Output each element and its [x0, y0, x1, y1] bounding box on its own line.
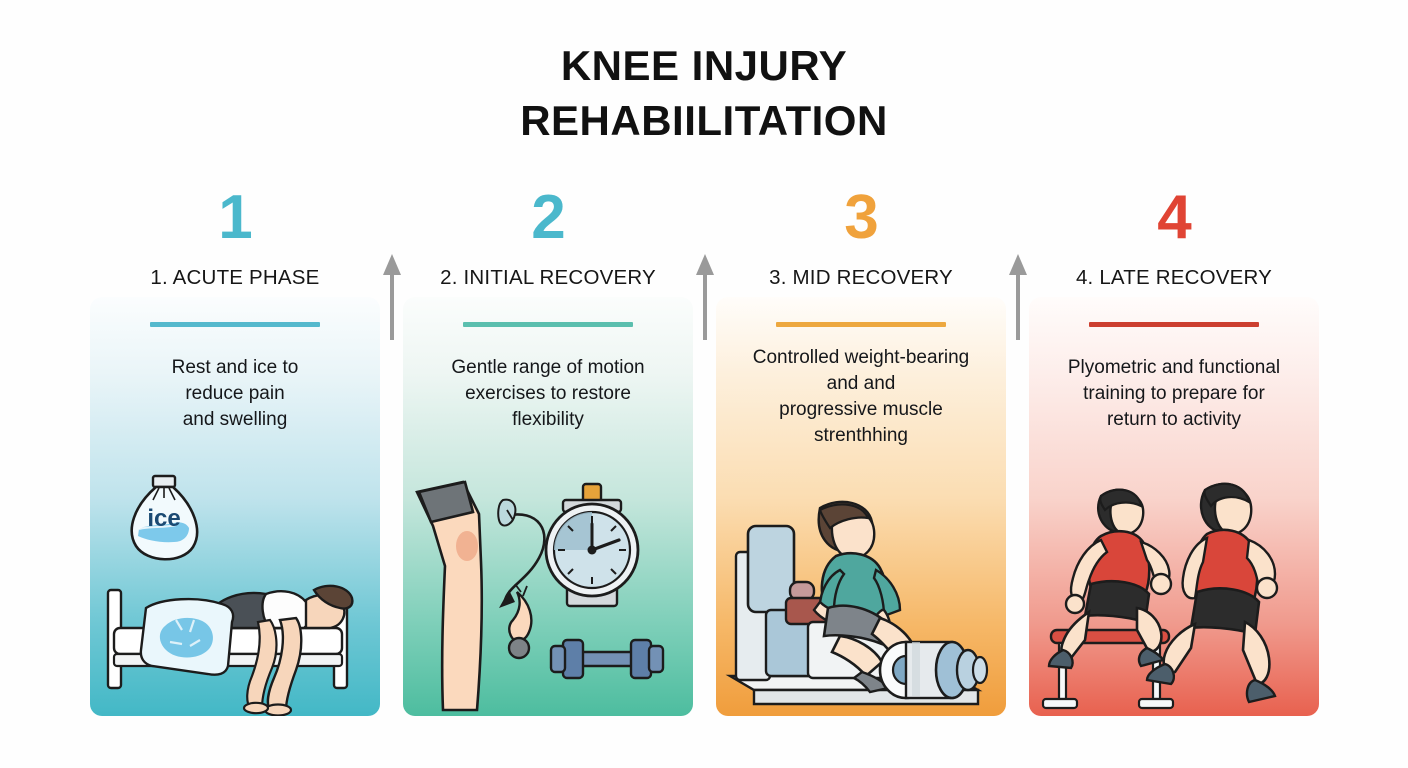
body-line: Rest and ice to	[172, 357, 299, 378]
stopwatch-icon	[546, 484, 638, 606]
step-number-2: 2	[403, 186, 693, 250]
step-number-3: 3	[716, 186, 1006, 250]
arrow-shaft	[703, 274, 707, 340]
step-heading-3: 3. MID RECOVERY	[708, 266, 1014, 290]
page-title-line-1: KNEE INJURY	[0, 38, 1408, 93]
steps-container: 1 1. ACUTE PHASE Rest and ice to reduce …	[90, 186, 1318, 716]
step-card-3[interactable]: Controlled weight-bearing and and progre…	[716, 297, 1006, 716]
step-number-1: 1	[90, 186, 380, 250]
step-number-4: 4	[1029, 186, 1319, 250]
step-body-text-1: Rest and ice to reduce pain and swelling	[96, 355, 374, 433]
step-body-text-2: Gentle range of motion exercises to rest…	[409, 355, 687, 433]
step-accent-bar-4	[1089, 322, 1259, 327]
step-card-4[interactable]: Plyometric and functional training to pr…	[1029, 297, 1319, 716]
page-title-line-2: REHABIILITATION	[0, 93, 1408, 148]
step-heading-2: 2. INITIAL RECOVERY	[395, 266, 701, 290]
step-card-1[interactable]: Rest and ice to reduce pain and swelling	[90, 297, 380, 716]
body-line: exercises to restore	[465, 383, 631, 404]
ice-pack-bed-rest-illustration: ice	[90, 470, 380, 716]
step-column-4: 4 4. LATE RECOVERY Plyometric and functi…	[1029, 186, 1319, 716]
step-column-3: 3 3. MID RECOVERY Controlled weight-bear…	[716, 186, 1006, 716]
body-line: and swelling	[183, 409, 288, 430]
body-line: training to prepare for	[1083, 383, 1265, 404]
body-line: Gentle range of motion	[451, 357, 644, 378]
runners-hurdle-illustration	[1029, 470, 1319, 716]
ice-label: ice	[147, 505, 180, 532]
body-line: reduce pain	[185, 383, 284, 404]
body-line: Controlled weight-bearing	[753, 347, 970, 368]
page-title: KNEE INJURY REHABIILITATION	[0, 38, 1408, 149]
body-line: Plyometric and functional	[1068, 357, 1280, 378]
body-line: and and	[827, 373, 896, 394]
dumbbell-icon	[551, 640, 663, 678]
infographic-page: KNEE INJURY REHABIILITATION 1 1. ACUTE P…	[0, 0, 1408, 768]
step-accent-bar-3	[776, 322, 946, 327]
step-body-text-3: Controlled weight-bearing and and progre…	[722, 345, 1000, 449]
body-line: return to activity	[1107, 409, 1241, 430]
body-line: progressive muscle	[779, 399, 943, 420]
body-line: flexibility	[512, 409, 584, 430]
step-accent-bar-1	[150, 322, 320, 327]
body-line: strenthhing	[814, 425, 908, 446]
step-accent-bar-2	[463, 322, 633, 327]
step-body-text-4: Plyometric and functional training to pr…	[1035, 355, 1313, 433]
leg-press-machine-illustration	[716, 490, 1006, 716]
step-card-2[interactable]: Gentle range of motion exercises to rest…	[403, 297, 693, 716]
arrow-shaft	[1016, 274, 1020, 340]
arrow-shaft	[390, 274, 394, 340]
step-heading-1: 1. ACUTE PHASE	[82, 266, 388, 290]
step-heading-4: 4. LATE RECOVERY	[1021, 266, 1327, 290]
step-column-1: 1 1. ACUTE PHASE Rest and ice to reduce …	[90, 186, 380, 716]
knee-range-of-motion-illustration	[403, 470, 693, 716]
leg-shape	[417, 482, 482, 710]
step-column-2: 2 2. INITIAL RECOVERY Gentle range of mo…	[403, 186, 693, 716]
